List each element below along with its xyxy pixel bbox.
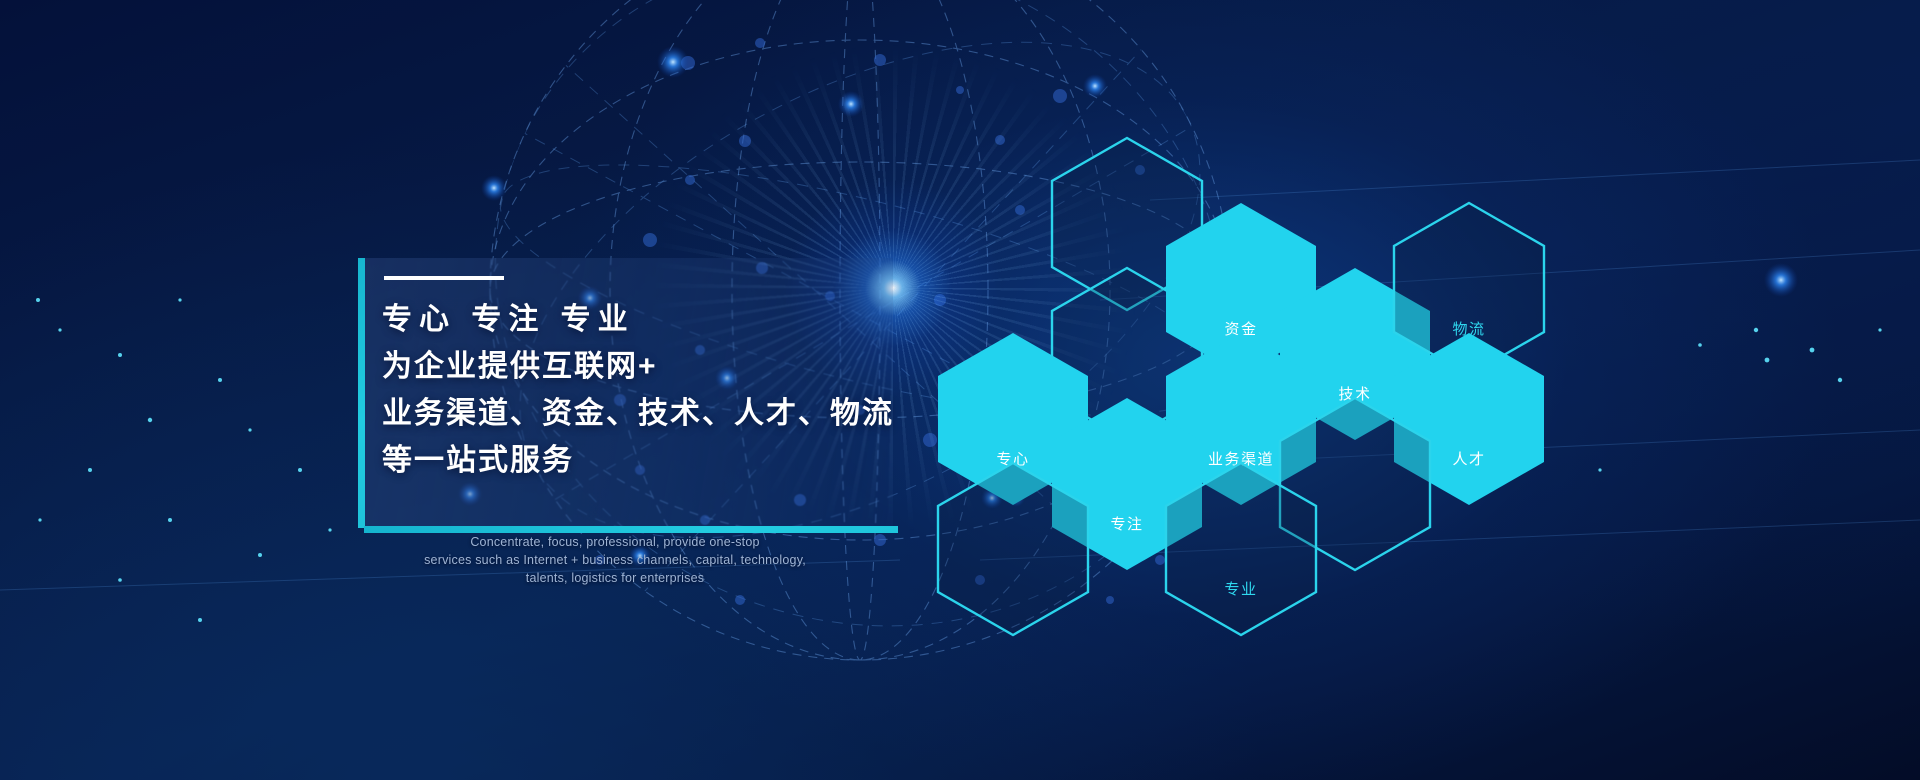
hero-banner: 专心 专注 专业 为企业提供互联网+ 业务渠道、资金、技术、人才、物流 等一站式… (0, 0, 1920, 780)
hex-shape (1166, 463, 1316, 635)
svg-text:e: e (1385, 467, 1396, 488)
hex-label: 专业 (1166, 578, 1316, 599)
hexagon-cluster: 资金技术物流专心业务渠道人才专注e专业 (0, 0, 1920, 780)
hex-pro[interactable]: 专业 (1166, 463, 1316, 635)
hex-atom[interactable] (938, 463, 1088, 635)
